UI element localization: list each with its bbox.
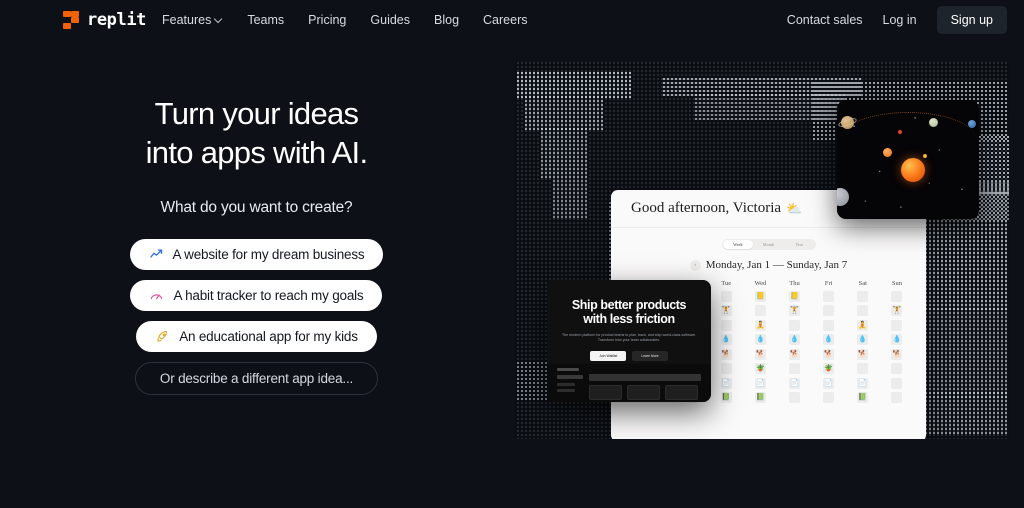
orbit-path: [841, 112, 975, 164]
habit-cell[interactable]: 📄: [789, 378, 800, 389]
day-wed: Wed: [743, 280, 777, 287]
habit-cell[interactable]: 💧: [891, 334, 902, 345]
product-card-title-line-1: Ship better products: [547, 298, 711, 312]
habit-cell[interactable]: 🏋: [891, 305, 902, 316]
habit-cell[interactable]: 💧: [857, 334, 868, 345]
day-sun: Sun: [880, 280, 914, 287]
habit-cell[interactable]: 🐕: [823, 349, 834, 360]
habit-cell[interactable]: 🐕: [789, 349, 800, 360]
habit-cell[interactable]: 🏋: [789, 305, 800, 316]
suggestion-label: A habit tracker to reach my goals: [173, 288, 363, 303]
rocket-icon: [155, 329, 170, 344]
habit-cell[interactable]: [823, 392, 834, 403]
nav-item-features[interactable]: Features: [162, 13, 223, 27]
habit-cell[interactable]: 💧: [823, 334, 834, 345]
habit-cell[interactable]: 🧘: [857, 320, 868, 331]
habit-cell[interactable]: [823, 305, 834, 316]
suggestion-website-business[interactable]: A website for my dream business: [130, 239, 384, 270]
blue-planet: [968, 120, 976, 128]
product-card-title: Ship better products with less friction: [547, 298, 711, 327]
suggestion-label: A website for my dream business: [173, 247, 365, 262]
dashboard-mockup: [547, 364, 711, 402]
habit-cell[interactable]: [721, 320, 732, 331]
habit-cell[interactable]: 📄: [823, 378, 834, 389]
small-planet: [923, 154, 927, 158]
habit-cell[interactable]: [755, 305, 766, 316]
primary-nav-links: Features Teams Pricing Guides Blog Caree…: [162, 0, 528, 40]
habit-cell[interactable]: 🐕: [755, 349, 766, 360]
habit-cell[interactable]: 📗: [857, 392, 868, 403]
habit-cell[interactable]: 🏋: [721, 305, 732, 316]
habit-cell[interactable]: 📄: [755, 378, 766, 389]
nav-item-pricing[interactable]: Pricing: [308, 13, 346, 27]
solar-system-app-preview: [837, 100, 979, 219]
hero-subtitle: What do you want to create?: [161, 199, 353, 217]
habit-cell[interactable]: [789, 320, 800, 331]
trending-up-icon: [149, 247, 164, 262]
date-range-row: ‹ Monday, Jan 1 — Sunday, Jan 7: [611, 259, 926, 271]
suggestion-habit-tracker[interactable]: A habit tracker to reach my goals: [130, 280, 382, 311]
tab-month[interactable]: Month: [753, 242, 784, 247]
habit-cell[interactable]: 💧: [789, 334, 800, 345]
nav-item-blog[interactable]: Blog: [434, 13, 459, 27]
red-planet: [898, 130, 902, 134]
nav-item-features-label: Features: [162, 13, 211, 27]
join-waitlist-button[interactable]: Join Waitlist: [590, 351, 626, 361]
product-card-title-line-2: with less friction: [547, 312, 711, 326]
day-thu: Thu: [777, 280, 811, 287]
replit-logo[interactable]: replit: [63, 10, 146, 30]
suggestion-educational-app[interactable]: An educational app for my kids: [136, 321, 377, 352]
nav-item-teams[interactable]: Teams: [247, 13, 284, 27]
contact-sales-link[interactable]: Contact sales: [787, 13, 863, 27]
suggestion-list: A website for my dream business A habit …: [130, 239, 384, 395]
nav-item-guides[interactable]: Guides: [370, 13, 410, 27]
suggestion-label: An educational app for my kids: [179, 329, 358, 344]
habit-cell[interactable]: [857, 291, 868, 302]
habit-cell[interactable]: [721, 363, 732, 374]
chevron-left-icon[interactable]: ‹: [690, 260, 701, 271]
tab-year[interactable]: Year: [784, 242, 815, 247]
cloud-icon: ⛅: [786, 201, 802, 217]
saturn-planet: [841, 116, 854, 129]
day-sat: Sat: [846, 280, 880, 287]
habit-cell[interactable]: [857, 363, 868, 374]
habit-cell[interactable]: [891, 320, 902, 331]
habit-cell[interactable]: [789, 392, 800, 403]
habit-cell[interactable]: 💧: [755, 334, 766, 345]
hero-showcase-image: Good afternoon, Victoria ⛅ Week Month Ye…: [513, 62, 1009, 439]
hero-title-line-1: Turn your ideas: [146, 95, 368, 134]
date-range-label: Monday, Jan 1 — Sunday, Jan 7: [706, 259, 848, 271]
habit-cell[interactable]: 📗: [721, 392, 732, 403]
habit-cell[interactable]: 📄: [857, 378, 868, 389]
habit-cell[interactable]: [857, 305, 868, 316]
product-card-subtitle: The modern platform for product teams to…: [559, 333, 699, 344]
habit-cell[interactable]: 📒: [789, 291, 800, 302]
green-planet: [929, 118, 938, 127]
habit-cell[interactable]: 🪴: [823, 363, 834, 374]
habit-cell[interactable]: 📗: [755, 392, 766, 403]
habit-cell[interactable]: 📄: [721, 378, 732, 389]
top-navigation-bar: replit Features Teams Pricing Guides Blo…: [0, 0, 1024, 40]
habit-cell[interactable]: [891, 378, 902, 389]
habit-cell[interactable]: [891, 363, 902, 374]
habit-cell[interactable]: [789, 363, 800, 374]
replit-logo-text: replit: [87, 10, 146, 30]
habit-greeting-text: Good afternoon, Victoria: [631, 200, 781, 217]
habit-cell[interactable]: [891, 291, 902, 302]
habit-cell[interactable]: [823, 291, 834, 302]
habit-cell[interactable]: 🪴: [755, 363, 766, 374]
suggestion-custom-idea[interactable]: Or describe a different app idea...: [135, 362, 378, 395]
habit-cell[interactable]: 🐕: [891, 349, 902, 360]
habit-cell[interactable]: 🐕: [857, 349, 868, 360]
hero-left-column: Turn your ideas into apps with AI. What …: [0, 95, 513, 395]
orange-planet: [883, 148, 892, 157]
habit-cell[interactable]: [891, 392, 902, 403]
tab-week[interactable]: Week: [723, 240, 754, 249]
gauge-icon: [149, 288, 164, 303]
habit-cell[interactable]: 🐕: [721, 349, 732, 360]
page-title: Turn your ideas into apps with AI.: [146, 95, 368, 173]
hero-title-line-2: into apps with AI.: [146, 134, 368, 173]
habit-cell[interactable]: [823, 320, 834, 331]
sign-up-button[interactable]: Sign up: [937, 6, 1007, 34]
habit-cell[interactable]: 📒: [755, 291, 766, 302]
nav-actions: Contact sales Log in Sign up: [787, 0, 1007, 40]
product-landing-preview: Ship better products with less friction …: [547, 280, 711, 402]
chevron-down-icon: [215, 16, 223, 24]
learn-more-button[interactable]: Learn More: [632, 351, 667, 361]
replit-logo-mark: [63, 11, 80, 30]
log-in-link[interactable]: Log in: [883, 13, 917, 27]
range-tab-group: Week Month Year: [722, 239, 816, 250]
nav-item-careers[interactable]: Careers: [483, 13, 527, 27]
habit-cell[interactable]: 🧘: [755, 320, 766, 331]
sun: [901, 158, 925, 182]
product-card-actions: Join Waitlist Learn More: [547, 351, 711, 361]
day-fri: Fri: [812, 280, 846, 287]
day-tue: Tue: [709, 280, 743, 287]
habit-cell[interactable]: 💧: [721, 334, 732, 345]
habit-cell[interactable]: [721, 291, 732, 302]
